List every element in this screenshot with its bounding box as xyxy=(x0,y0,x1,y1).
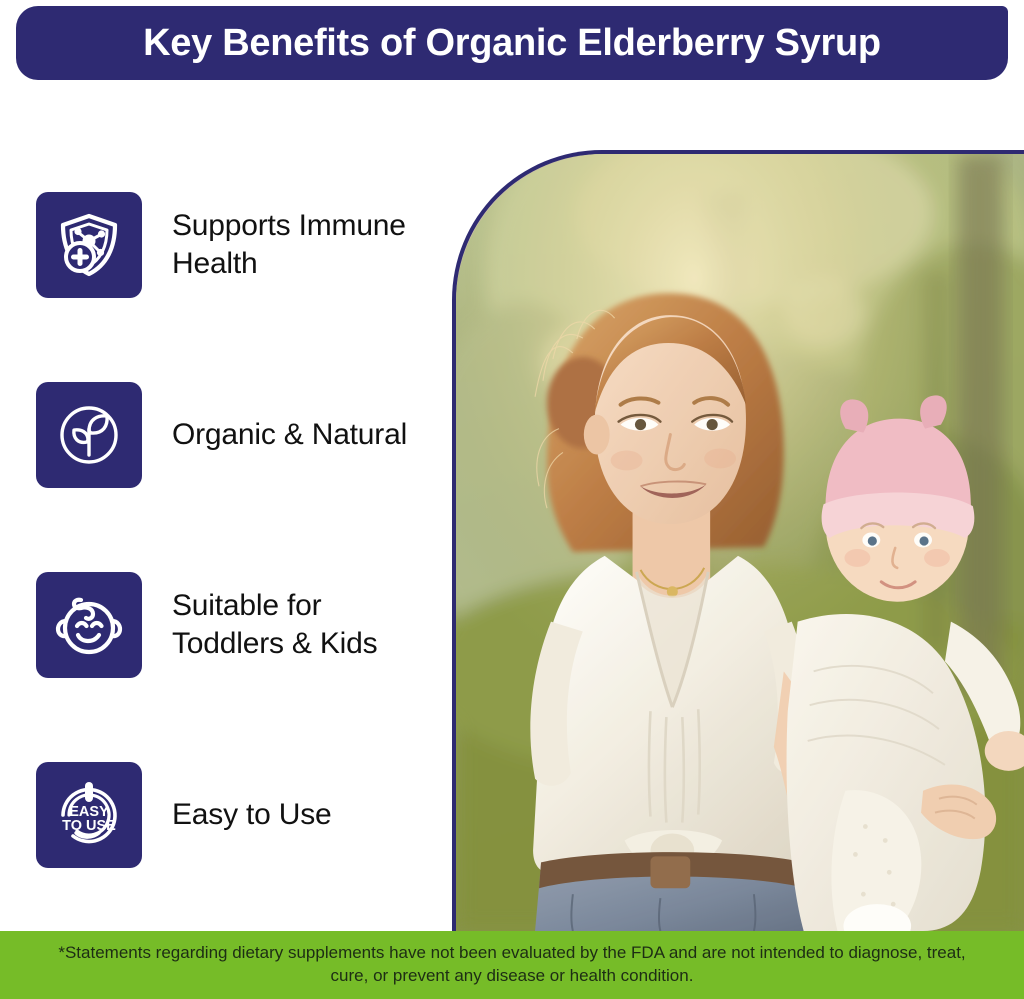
benefit-label-immune: Supports Immune Health xyxy=(172,207,406,284)
easy-icon-text-line2: TO USE xyxy=(62,818,116,834)
benefit-item-toddlers: Suitable for Toddlers & Kids xyxy=(36,530,466,720)
baby-face-icon xyxy=(36,572,142,678)
hero-photo-image xyxy=(456,154,1024,931)
infographic-root: Key Benefits of Organic Elderberry Syrup xyxy=(0,0,1024,999)
benefit-item-easy: EASY TO USE Easy to Use xyxy=(36,720,466,910)
benefit-item-organic: Organic & Natural xyxy=(36,340,466,530)
benefit-label-immune-line2: Health xyxy=(172,247,258,280)
benefit-label-organic: Organic & Natural xyxy=(172,416,407,454)
benefit-label-toddlers-line1: Suitable for xyxy=(172,589,321,622)
page-title: Key Benefits of Organic Elderberry Syrup xyxy=(143,24,881,62)
benefit-label-easy: Easy to Use xyxy=(172,796,332,834)
footer-disclaimer-bar: *Statements regarding dietary supplement… xyxy=(0,931,1024,999)
benefits-list: Supports Immune Health Organic & Natural xyxy=(36,150,466,910)
hero-photo-clip xyxy=(456,154,1024,931)
hero-photo-panel xyxy=(452,150,1024,931)
easy-to-use-power-icon: EASY TO USE xyxy=(36,762,142,868)
footer-disclaimer-line1: *Statements regarding dietary supplement… xyxy=(58,943,755,962)
footer-disclaimer-text: *Statements regarding dietary supplement… xyxy=(47,942,977,987)
shield-immune-icon xyxy=(36,192,142,298)
benefit-label-toddlers-line2: Toddlers & Kids xyxy=(172,627,377,660)
benefit-label-immune-line1: Supports Immune xyxy=(172,209,406,242)
benefit-label-toddlers: Suitable for Toddlers & Kids xyxy=(172,587,377,664)
benefit-item-immune: Supports Immune Health xyxy=(36,150,466,340)
header-banner: Key Benefits of Organic Elderberry Syrup xyxy=(16,6,1008,80)
plant-sprout-circle-icon xyxy=(36,382,142,488)
